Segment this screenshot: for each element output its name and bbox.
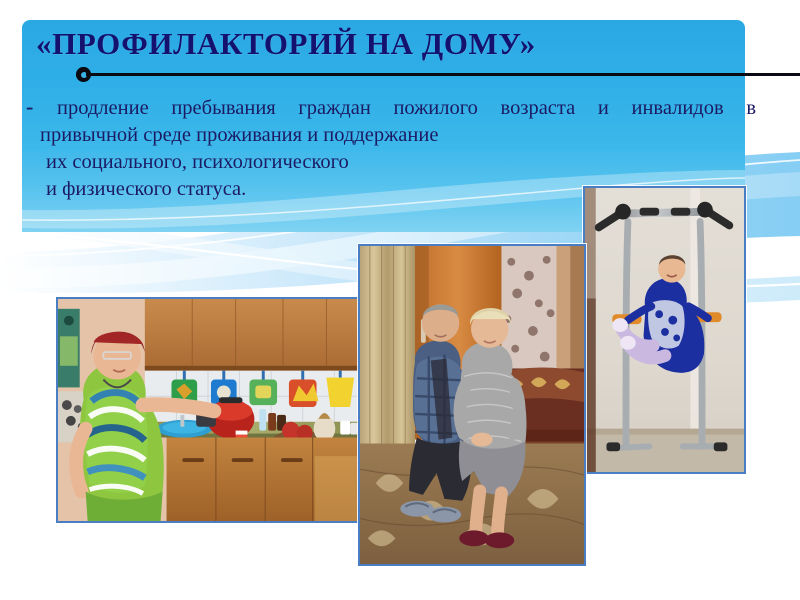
body-line-2: привычной среде проживания и поддержание	[26, 122, 768, 149]
bullet-dash-icon: -	[26, 94, 34, 119]
photo-exercise	[583, 186, 746, 474]
photo-exercise-image	[585, 188, 744, 472]
photo-kitchen	[56, 297, 360, 523]
photo-kitchen-image	[58, 299, 358, 521]
body-line-3: их социального, психологического	[26, 149, 768, 176]
title-divider-rule	[86, 73, 800, 76]
body-line-1: - продление пребывания граждан пожилого …	[26, 93, 756, 122]
page-title: «ПРОФИЛАКТОРИЙ НА ДОМУ»	[36, 26, 716, 62]
body-line-1-text: продление пребывания граждан пожилого во…	[57, 97, 756, 119]
slide: «ПРОФИЛАКТОРИЙ НА ДОМУ» - продление преб…	[0, 0, 800, 600]
photo-couple-image	[360, 246, 584, 564]
photo-couple	[358, 244, 586, 566]
